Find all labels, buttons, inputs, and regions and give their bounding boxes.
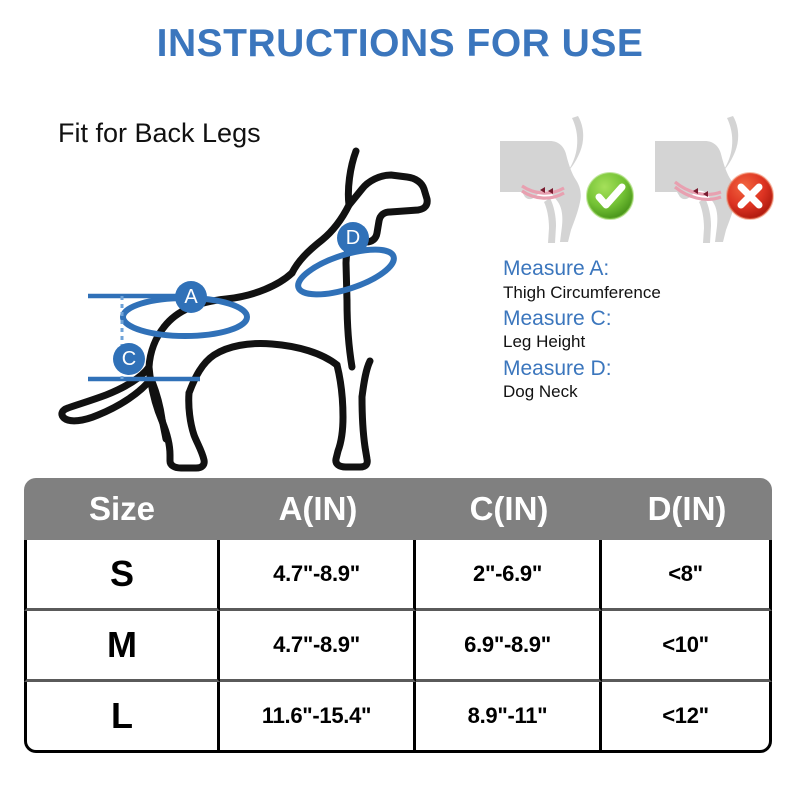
fit-examples-illustration bbox=[492, 112, 782, 247]
cell-s-d: <8" bbox=[602, 540, 772, 611]
table-row: S 4.7"-8.9" 2"-6.9" <8" bbox=[24, 540, 772, 611]
measure-a-badge: A bbox=[175, 281, 207, 313]
measure-a-description: Thigh Circumference bbox=[503, 282, 783, 303]
cell-l-a: 11.6"-15.4" bbox=[220, 682, 416, 753]
incorrect-example-dog-silhouette bbox=[655, 116, 738, 243]
column-header-d-in: D(IN) bbox=[602, 478, 772, 540]
cell-m-a: 4.7"-8.9" bbox=[220, 611, 416, 682]
red-cross-circle-icon bbox=[727, 173, 773, 219]
measure-d-badge: D bbox=[337, 222, 369, 254]
table-row: L 11.6"-15.4" 8.9"-11" <12" bbox=[24, 682, 772, 753]
column-header-size: Size bbox=[24, 478, 220, 540]
size-chart-table: Size A(IN) C(IN) D(IN) S 4.7"-8.9" 2"-6.… bbox=[24, 478, 772, 753]
green-check-circle-icon bbox=[587, 173, 633, 219]
cell-m-c: 6.9"-8.9" bbox=[416, 611, 602, 682]
cell-size-m: M bbox=[24, 611, 220, 682]
cell-m-d: <10" bbox=[602, 611, 772, 682]
dog-side-profile-diagram bbox=[50, 105, 490, 475]
measure-d-description: Dog Neck bbox=[503, 381, 783, 402]
page-title: INSTRUCTIONS FOR USE bbox=[0, 22, 800, 66]
cell-l-c: 8.9"-11" bbox=[416, 682, 602, 753]
cell-s-a: 4.7"-8.9" bbox=[220, 540, 416, 611]
cell-size-l: L bbox=[24, 682, 220, 753]
cell-l-d: <12" bbox=[602, 682, 772, 753]
measure-d-title: Measure D: bbox=[503, 356, 783, 382]
measure-c-description: Leg Height bbox=[503, 331, 783, 352]
table-row: M 4.7"-8.9" 6.9"-8.9" <10" bbox=[24, 611, 772, 682]
table-header-row: Size A(IN) C(IN) D(IN) bbox=[24, 478, 772, 540]
measure-c-title: Measure C: bbox=[503, 306, 783, 332]
correct-example-dog-silhouette bbox=[500, 116, 583, 243]
column-header-a-in: A(IN) bbox=[220, 478, 416, 540]
cell-s-c: 2"-6.9" bbox=[416, 540, 602, 611]
measure-c-badge: C bbox=[113, 343, 145, 375]
measure-a-title: Measure A: bbox=[503, 256, 783, 282]
cell-size-s: S bbox=[24, 540, 220, 611]
column-header-c-in: C(IN) bbox=[416, 478, 602, 540]
measure-legend: Measure A: Thigh Circumference Measure C… bbox=[503, 254, 783, 406]
